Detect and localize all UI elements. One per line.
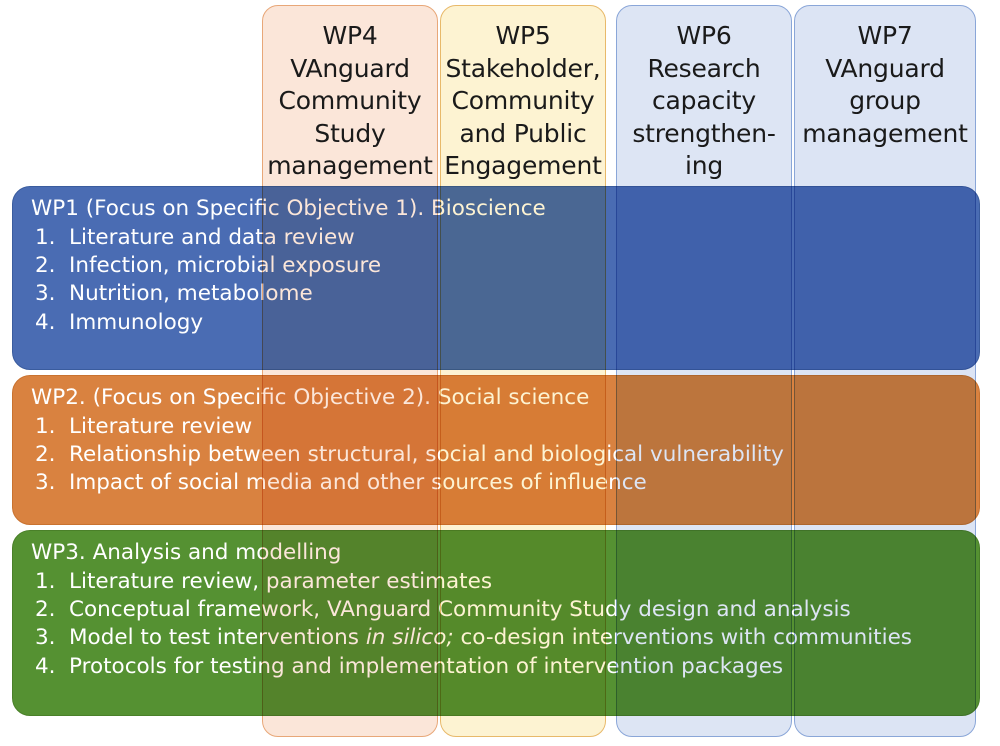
row-wp1-list: 1.Literature and data review 2.Infection… [31,224,979,337]
list-item-text: Nutrition, metabolome [69,281,313,306]
list-item-text: Conceptual framework, VAnguard Community… [69,597,851,622]
list-item-number: 2. [35,252,63,280]
list-item-text: Literature review [69,414,252,439]
list-item: 3.Nutrition, metabolome [31,280,979,308]
row-wp3-title: WP3. Analysis and modelling [31,539,979,567]
list-item-number: 4. [35,309,63,337]
list-item: 3.Model to test interventions in silico;… [31,624,979,652]
list-item: 4.Immunology [31,309,979,337]
list-item-text-italic: in silico; [366,625,454,650]
list-item-text: Impact of social media and other sources… [69,470,647,495]
column-wp4-label: WP4 VAnguard Community Study management [263,20,436,183]
list-item-text: Model to test interventions [69,625,366,650]
list-item-number: 3. [35,469,63,497]
column-wp5-label: WP5 Stakeholder, Community and Public En… [440,20,605,183]
list-item-text: Literature review, parameter estimates [69,569,492,594]
row-wp3: WP3. Analysis and modelling 1.Literature… [12,530,980,716]
list-item: 1.Literature review [31,413,979,441]
list-item-number: 4. [35,653,63,681]
list-item-text: Relationship between structural, social … [69,442,784,467]
row-wp2-title: WP2. (Focus on Specific Objective 2). So… [31,384,979,412]
list-item-number: 2. [35,441,63,469]
list-item-number: 1. [35,413,63,441]
column-wp6-label: WP6 Research capacity strengthen- ing [628,20,779,183]
list-item: 2.Infection, microbial exposure [31,252,979,280]
row-wp1: WP1 (Focus on Specific Objective 1). Bio… [12,186,980,370]
list-item-text: Literature and data review [69,225,355,250]
list-item: 2.Relationship between structural, socia… [31,441,979,469]
list-item: 2.Conceptual framework, VAnguard Communi… [31,596,979,624]
list-item: 4.Protocols for testing and implementati… [31,653,979,681]
list-item: 1.Literature and data review [31,224,979,252]
list-item-number: 3. [35,624,63,652]
list-item: 3.Impact of social media and other sourc… [31,469,979,497]
list-item-number: 1. [35,568,63,596]
list-item-number: 3. [35,280,63,308]
row-wp1-title: WP1 (Focus on Specific Objective 1). Bio… [31,195,979,223]
list-item-text-after: co-design interventions with communities [454,625,912,650]
list-item-number: 1. [35,224,63,252]
row-wp2-list: 1.Literature review 2.Relationship betwe… [31,413,979,498]
list-item: 1.Literature review, parameter estimates [31,568,979,596]
row-wp2: WP2. (Focus on Specific Objective 2). So… [12,375,980,525]
row-wp3-list: 1.Literature review, parameter estimates… [31,568,979,681]
list-item-number: 2. [35,596,63,624]
work-package-matrix-diagram: WP4 VAnguard Community Study management … [0,0,1000,746]
list-item-text: Immunology [69,310,203,335]
list-item-text: Infection, microbial exposure [69,253,381,278]
list-item-text: Protocols for testing and implementation… [69,654,783,679]
column-wp7-label: WP7 VAnguard group management [798,20,971,150]
